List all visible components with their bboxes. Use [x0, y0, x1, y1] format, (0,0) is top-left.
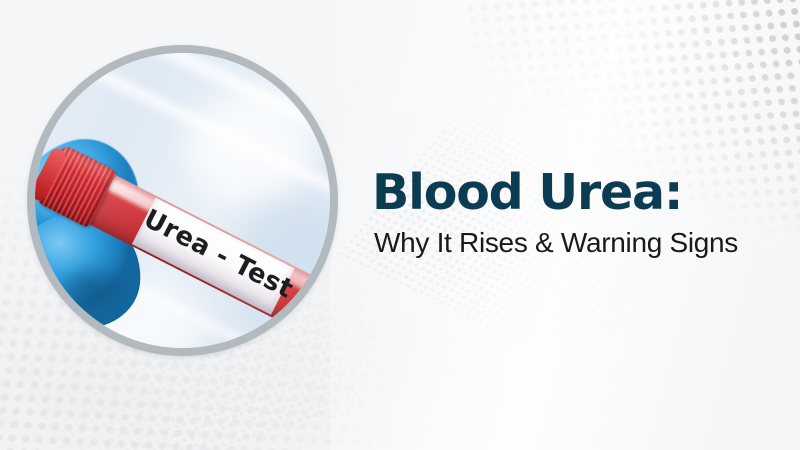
blood-urea-banner: Urea - Test Blood Urea: Why It Rises & W… [0, 0, 800, 450]
page-subtitle: Why It Rises & Warning Signs [374, 228, 784, 259]
lab-blur-blot-1 [185, 93, 315, 203]
photo-circle-clip: Urea - Test [35, 53, 330, 348]
text-block: Blood Urea: Why It Rises & Warning Signs [372, 168, 784, 259]
page-title: Blood Urea: [372, 168, 784, 218]
glove-shadow [41, 259, 139, 329]
blood-test-photo: Urea - Test [35, 53, 330, 348]
photo-circle-ring: Urea - Test [27, 45, 338, 356]
